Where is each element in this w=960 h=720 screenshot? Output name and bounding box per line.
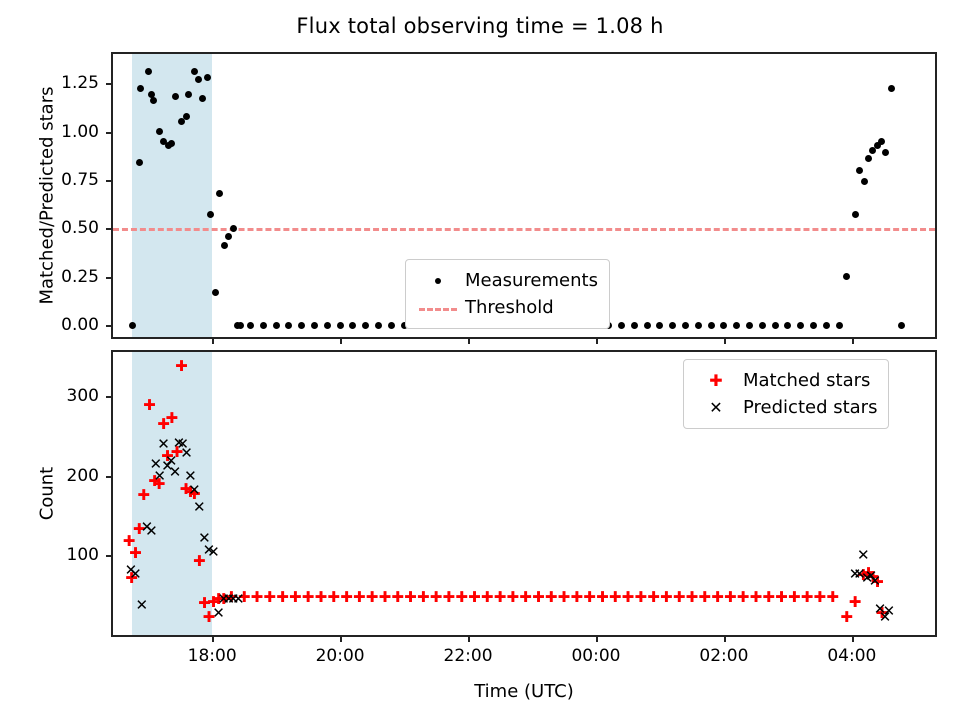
data-point-measurements: [631, 322, 638, 329]
y-tick-mark: [106, 83, 111, 85]
data-point-measurements: [823, 322, 830, 329]
x-tick-label: 18:00: [188, 646, 237, 666]
y-tick-label: 0.00: [0, 315, 99, 335]
data-point-measurements: [136, 159, 143, 166]
data-point-predicted-stars: ✕: [127, 566, 143, 582]
data-point-measurements: [225, 233, 232, 240]
data-point-predicted-stars: ✕: [881, 603, 897, 619]
y-tick-mark: [106, 132, 111, 134]
x-tick-label: 20:00: [316, 646, 365, 666]
data-point-matched-stars: ✚: [141, 397, 157, 413]
data-point-measurements: [861, 178, 868, 185]
y-tick-label: 1.00: [0, 122, 99, 142]
data-point-matched-stars: ✚: [164, 410, 180, 426]
data-point-measurements: [145, 68, 152, 75]
data-point-measurements: [337, 322, 344, 329]
data-point-measurements: [324, 322, 331, 329]
x-tick-mark: [340, 339, 342, 344]
data-point-measurements: [216, 190, 223, 197]
data-point-measurements: [375, 322, 382, 329]
data-point-measurements: [836, 322, 843, 329]
data-point-predicted-stars: ✕: [191, 499, 207, 515]
dashed-line-icon: [415, 298, 461, 318]
plus-marker-icon: ✚: [693, 371, 739, 391]
legend-label-matched-stars: Matched stars: [739, 370, 870, 391]
data-point-measurements: [260, 322, 267, 329]
legend-item-threshold: Threshold: [415, 294, 598, 321]
y-tick-label: 100: [0, 545, 99, 565]
x-tick-mark: [212, 637, 214, 642]
data-point-measurements: [898, 322, 905, 329]
data-point-measurements: [644, 322, 651, 329]
data-point-predicted-stars: ✕: [867, 573, 883, 589]
data-point-measurements: [362, 322, 369, 329]
data-point-measurements: [183, 113, 190, 120]
x-tick-mark: [852, 637, 854, 642]
y-tick-mark: [106, 555, 111, 557]
y-tick-mark: [106, 396, 111, 398]
data-point-matched-stars: ✚: [825, 589, 841, 605]
legend-label-measurements: Measurements: [461, 270, 598, 291]
data-point-measurements: [212, 289, 219, 296]
data-point-measurements: [204, 74, 211, 81]
legend-item-matched-stars: ✚ Matched stars: [693, 367, 877, 394]
x-tick-mark: [212, 339, 214, 344]
legend-item-predicted-stars: ✕ Predicted stars: [693, 394, 877, 421]
data-point-predicted-stars: ✕: [179, 445, 195, 461]
y-tick-mark: [106, 325, 111, 327]
bottom-legend: ✚ Matched stars ✕ Predicted stars: [683, 359, 889, 429]
x-tick-label: 22:00: [444, 646, 493, 666]
data-point-predicted-stars: ✕: [855, 547, 871, 563]
figure-title: Flux total observing time = 1.08 h: [0, 14, 960, 38]
data-point-measurements: [856, 167, 863, 174]
data-point-measurements: [191, 68, 198, 75]
x-tick-mark: [724, 339, 726, 344]
data-point-measurements: [772, 322, 779, 329]
data-point-measurements: [843, 273, 850, 280]
x-tick-label: 02:00: [699, 646, 748, 666]
data-point-measurements: [720, 322, 727, 329]
data-point-measurements: [156, 128, 163, 135]
data-point-predicted-stars: ✕: [134, 597, 150, 613]
data-point-measurements: [695, 322, 702, 329]
data-point-predicted-stars: ✕: [167, 464, 183, 480]
dot-marker-icon: [415, 271, 461, 291]
data-point-predicted-stars: ✕: [156, 436, 172, 452]
data-point-measurements: [733, 322, 740, 329]
data-point-measurements: [878, 138, 885, 145]
data-point-measurements: [852, 211, 859, 218]
data-point-predicted-stars: ✕: [205, 544, 221, 560]
figure-root: Flux total observing time = 1.08 h ✚✚✚✚✚…: [0, 0, 960, 720]
data-point-matched-stars: ✚: [127, 545, 143, 561]
data-point-measurements: [207, 211, 214, 218]
y-tick-label: 200: [0, 466, 99, 486]
cross-marker-icon: ✕: [693, 398, 739, 418]
data-point-measurements: [669, 322, 676, 329]
y-tick-label: 0.75: [0, 170, 99, 190]
data-point-measurements: [168, 140, 175, 147]
data-point-predicted-stars: ✕: [230, 591, 246, 607]
data-point-matched-stars: ✚: [839, 609, 855, 625]
data-point-measurements: [708, 322, 715, 329]
y-tick-mark: [106, 180, 111, 182]
data-point-measurements: [618, 322, 625, 329]
data-point-measurements: [784, 322, 791, 329]
y-tick-label: 0.50: [0, 218, 99, 238]
x-tick-mark: [852, 339, 854, 344]
data-point-measurements: [237, 322, 244, 329]
data-point-measurements: [247, 322, 254, 329]
data-point-measurements: [172, 93, 179, 100]
data-point-measurements: [388, 322, 395, 329]
y-tick-mark: [106, 277, 111, 279]
data-point-predicted-stars: ✕: [186, 482, 202, 498]
data-point-matched-stars: ✚: [173, 358, 189, 374]
x-tick-mark: [468, 637, 470, 642]
data-point-measurements: [810, 322, 817, 329]
x-tick-mark: [468, 339, 470, 344]
y-tick-label: 0.25: [0, 267, 99, 287]
data-point-measurements: [195, 76, 202, 83]
data-point-measurements: [230, 225, 237, 232]
data-point-measurements: [656, 322, 663, 329]
y-tick-mark: [106, 476, 111, 478]
x-tick-mark: [596, 339, 598, 344]
x-tick-label: 00:00: [571, 646, 620, 666]
x-axis-title: Time (UTC): [111, 681, 937, 702]
y-tick-label: 300: [0, 386, 99, 406]
data-point-measurements: [311, 322, 318, 329]
data-point-measurements: [221, 242, 228, 249]
data-point-measurements: [797, 322, 804, 329]
data-point-measurements: [746, 322, 753, 329]
data-point-measurements: [273, 322, 280, 329]
data-point-measurements: [285, 322, 292, 329]
data-point-measurements: [865, 155, 872, 162]
y-tick-mark: [106, 228, 111, 230]
x-tick-mark: [724, 637, 726, 642]
y-tick-label: 1.25: [0, 73, 99, 93]
data-point-measurements: [682, 322, 689, 329]
top-legend: Measurements Threshold: [405, 259, 610, 329]
data-point-measurements: [759, 322, 766, 329]
x-tick-label: 04:00: [827, 646, 876, 666]
data-point-matched-stars: ✚: [847, 594, 863, 610]
data-point-measurements: [888, 85, 895, 92]
data-point-measurements: [882, 149, 889, 156]
data-point-measurements: [298, 322, 305, 329]
x-tick-mark: [340, 637, 342, 642]
legend-item-measurements: Measurements: [415, 267, 598, 294]
data-point-predicted-stars: ✕: [143, 523, 159, 539]
legend-label-threshold: Threshold: [461, 297, 554, 318]
legend-label-predicted-stars: Predicted stars: [739, 397, 877, 418]
x-tick-mark: [596, 637, 598, 642]
data-point-measurements: [349, 322, 356, 329]
